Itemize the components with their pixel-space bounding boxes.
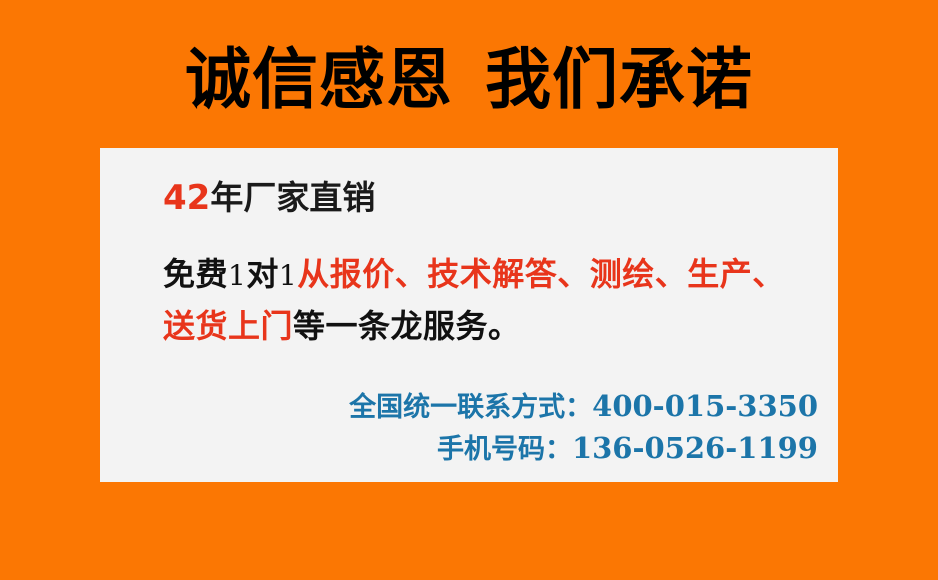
page-title: 诚信感恩我们承诺 [0, 40, 938, 120]
service-pair-label: 对 [246, 255, 279, 293]
contact-block: 全国统一联系方式：400-015-3350 手机号码：136-0526-1199 [349, 386, 818, 470]
service-one-digit-a: 1 [228, 259, 246, 292]
promo-poster: 诚信感恩我们承诺 42年厂家直销 免费1对1从报价、技术解答、测绘、生产、送货上… [0, 0, 938, 580]
contact-mobile-row: 手机号码：136-0526-1199 [349, 428, 818, 470]
factory-direct-line: 42年厂家直销 [163, 176, 375, 220]
content-panel: 42年厂家直销 免费1对1从报价、技术解答、测绘、生产、送货上门等一条龙服务。 … [100, 148, 838, 482]
service-free-label: 免费 [163, 255, 228, 293]
headline-part-1: 诚信感恩 [185, 41, 453, 118]
contact-mobile-number[interactable]: 136-0526-1199 [572, 431, 818, 465]
contact-hotline-number[interactable]: 400-015-3350 [592, 389, 818, 423]
years-number: 42 [163, 178, 210, 218]
factory-direct-label: 年厂家直销 [210, 178, 375, 217]
service-one-digit-b: 1 [279, 259, 297, 292]
contact-mobile-label: 手机号码： [437, 434, 572, 465]
service-onestop-label: 等一条龙服务。 [293, 307, 521, 345]
service-description: 免费1对1从报价、技术解答、测绘、生产、送货上门等一条龙服务。 [163, 249, 793, 351]
contact-hotline-row: 全国统一联系方式：400-015-3350 [349, 386, 818, 428]
headline-part-2: 我们承诺 [485, 41, 753, 118]
contact-hotline-label: 全国统一联系方式： [349, 392, 592, 423]
